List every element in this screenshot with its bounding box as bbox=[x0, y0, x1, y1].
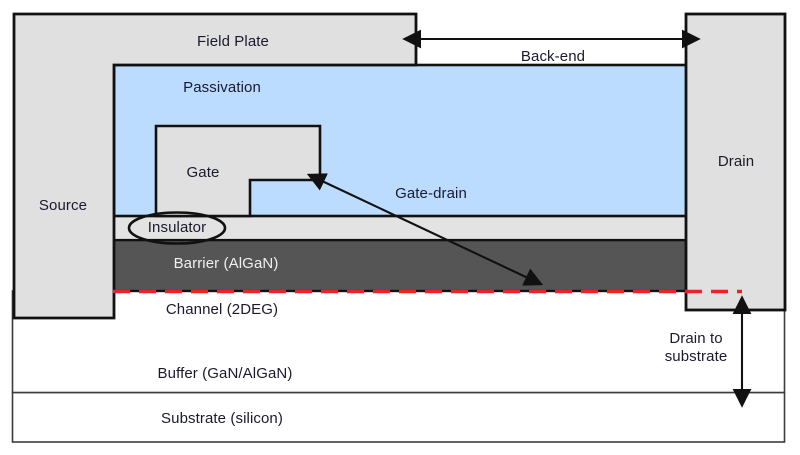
diagram-canvas: Field Plate Passivation Gate Source Drai… bbox=[0, 0, 800, 455]
label-field-plate: Field Plate bbox=[197, 33, 269, 51]
label-substrate: Substrate (silicon) bbox=[161, 410, 283, 428]
label-channel: Channel (2DEG) bbox=[166, 301, 278, 319]
label-barrier: Barrier (AlGaN) bbox=[174, 255, 279, 273]
label-insulator: Insulator bbox=[148, 219, 206, 237]
device-cross-section-svg bbox=[0, 0, 800, 455]
label-buffer: Buffer (GaN/AlGaN) bbox=[158, 365, 293, 383]
label-drain-to-substrate-line2: substrate bbox=[665, 348, 728, 365]
label-drain-to-substrate-line1: Drain to bbox=[669, 330, 722, 347]
substrate-region bbox=[13, 393, 785, 443]
label-drain-to-substrate: Drain to substrate bbox=[651, 330, 741, 366]
label-drain: Drain bbox=[718, 153, 754, 171]
label-passivation: Passivation bbox=[183, 79, 261, 97]
label-back-end: Back-end bbox=[521, 48, 585, 66]
label-gate: Gate bbox=[187, 164, 220, 182]
label-source: Source bbox=[39, 197, 87, 215]
label-gate-drain: Gate-drain bbox=[395, 185, 467, 203]
